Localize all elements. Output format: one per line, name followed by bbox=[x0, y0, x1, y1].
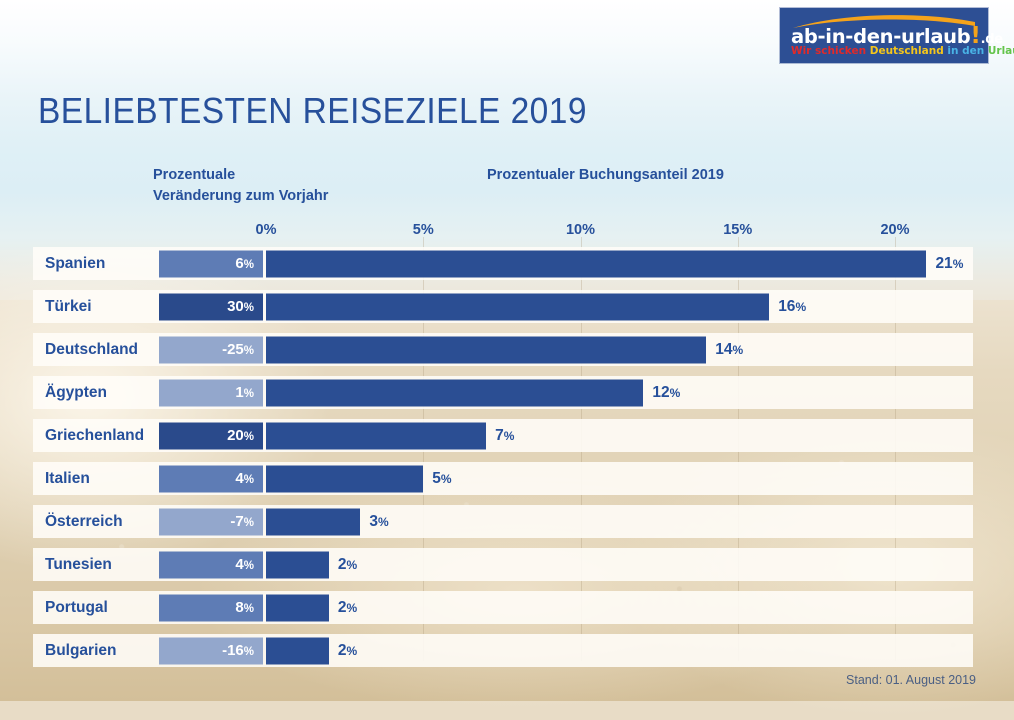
change-value: 6% bbox=[235, 255, 254, 272]
share-bar bbox=[266, 293, 769, 320]
x-axis-tick-label: 0% bbox=[256, 222, 277, 238]
tagline-word-1: Wir schicken bbox=[791, 45, 866, 57]
change-box: 4% bbox=[159, 465, 263, 492]
logo-tagline: Wir schicken Deutschland in den Urlaub bbox=[791, 46, 1014, 57]
change-value: -16% bbox=[222, 642, 254, 659]
chart-row: Bulgarien-16%2% bbox=[33, 634, 973, 667]
country-label: Deutschland bbox=[45, 341, 138, 359]
chart-row: Spanien6%21% bbox=[33, 247, 973, 280]
x-axis-tick-label: 20% bbox=[880, 222, 909, 238]
share-value-label: 5% bbox=[432, 470, 451, 488]
share-value-label: 2% bbox=[338, 599, 357, 617]
country-label: Spanien bbox=[45, 255, 105, 273]
source-note: Stand: 01. August 2019 bbox=[846, 673, 976, 687]
country-label: Türkei bbox=[45, 298, 92, 316]
share-value-label: 16% bbox=[778, 298, 806, 316]
share-bar bbox=[266, 508, 360, 535]
change-value: -25% bbox=[222, 341, 254, 358]
x-axis-tick-label: 5% bbox=[413, 222, 434, 238]
change-value: 30% bbox=[227, 298, 254, 315]
page-title: BELIEBTESTEN REISEZIELE 2019 bbox=[38, 90, 587, 132]
change-box: 30% bbox=[159, 293, 263, 320]
x-axis-tick-label: 10% bbox=[566, 222, 595, 238]
chart-row: Italien4%5% bbox=[33, 462, 973, 495]
column-header-change-line2: Veränderung zum Vorjahr bbox=[153, 186, 328, 207]
change-box: 8% bbox=[159, 594, 263, 621]
change-box: 4% bbox=[159, 551, 263, 578]
change-value: 8% bbox=[235, 599, 254, 616]
share-bar bbox=[266, 594, 329, 621]
share-value-label: 7% bbox=[495, 427, 514, 445]
column-header-change: Prozentuale Veränderung zum Vorjahr bbox=[153, 165, 328, 207]
chart-row: Tunesien4%2% bbox=[33, 548, 973, 581]
country-label: Italien bbox=[45, 470, 90, 488]
share-bar bbox=[266, 336, 706, 363]
chart-row: Ägypten1%12% bbox=[33, 376, 973, 409]
share-bar bbox=[266, 637, 329, 664]
change-box: -16% bbox=[159, 637, 263, 664]
chart-row: Österreich-7%3% bbox=[33, 505, 973, 538]
x-axis-tick-label: 15% bbox=[723, 222, 752, 238]
tagline-word-2: Deutschland bbox=[870, 45, 944, 57]
change-box: 6% bbox=[159, 250, 263, 277]
change-box: 20% bbox=[159, 422, 263, 449]
share-value-label: 12% bbox=[652, 384, 680, 402]
change-value: 4% bbox=[235, 556, 254, 573]
brand-logo[interactable]: ab-in-den-urlaub!.de Wir schicken Deutsc… bbox=[780, 8, 988, 63]
change-value: 20% bbox=[227, 427, 254, 444]
change-box: -7% bbox=[159, 508, 263, 535]
country-label: Griechenland bbox=[45, 427, 144, 445]
country-label: Portugal bbox=[45, 599, 108, 617]
column-header-share: Prozentualer Buchungsanteil 2019 bbox=[487, 165, 724, 186]
country-label: Österreich bbox=[45, 513, 123, 531]
country-label: Ägypten bbox=[45, 384, 107, 402]
chart-row: Portugal8%2% bbox=[33, 591, 973, 624]
share-value-label: 21% bbox=[935, 255, 963, 273]
share-value-label: 14% bbox=[715, 341, 743, 359]
tagline-word-3: in den bbox=[947, 45, 984, 57]
change-box: -25% bbox=[159, 336, 263, 363]
chart-row: Türkei30%16% bbox=[33, 290, 973, 323]
change-value: 4% bbox=[235, 470, 254, 487]
share-value-label: 3% bbox=[369, 513, 388, 531]
change-box: 1% bbox=[159, 379, 263, 406]
share-bar bbox=[266, 465, 423, 492]
share-bar bbox=[266, 422, 486, 449]
chart-row: Griechenland20%7% bbox=[33, 419, 973, 452]
share-value-label: 2% bbox=[338, 556, 357, 574]
change-value: -7% bbox=[230, 513, 254, 530]
tagline-word-4: Urlaub bbox=[988, 45, 1014, 57]
share-value-label: 2% bbox=[338, 642, 357, 660]
country-label: Tunesien bbox=[45, 556, 112, 574]
chart-row: Deutschland-25%14% bbox=[33, 333, 973, 366]
share-bar bbox=[266, 379, 643, 406]
change-value: 1% bbox=[235, 384, 254, 401]
share-bar bbox=[266, 250, 926, 277]
share-bar bbox=[266, 551, 329, 578]
column-header-change-line1: Prozentuale bbox=[153, 165, 328, 186]
country-label: Bulgarien bbox=[45, 642, 116, 660]
